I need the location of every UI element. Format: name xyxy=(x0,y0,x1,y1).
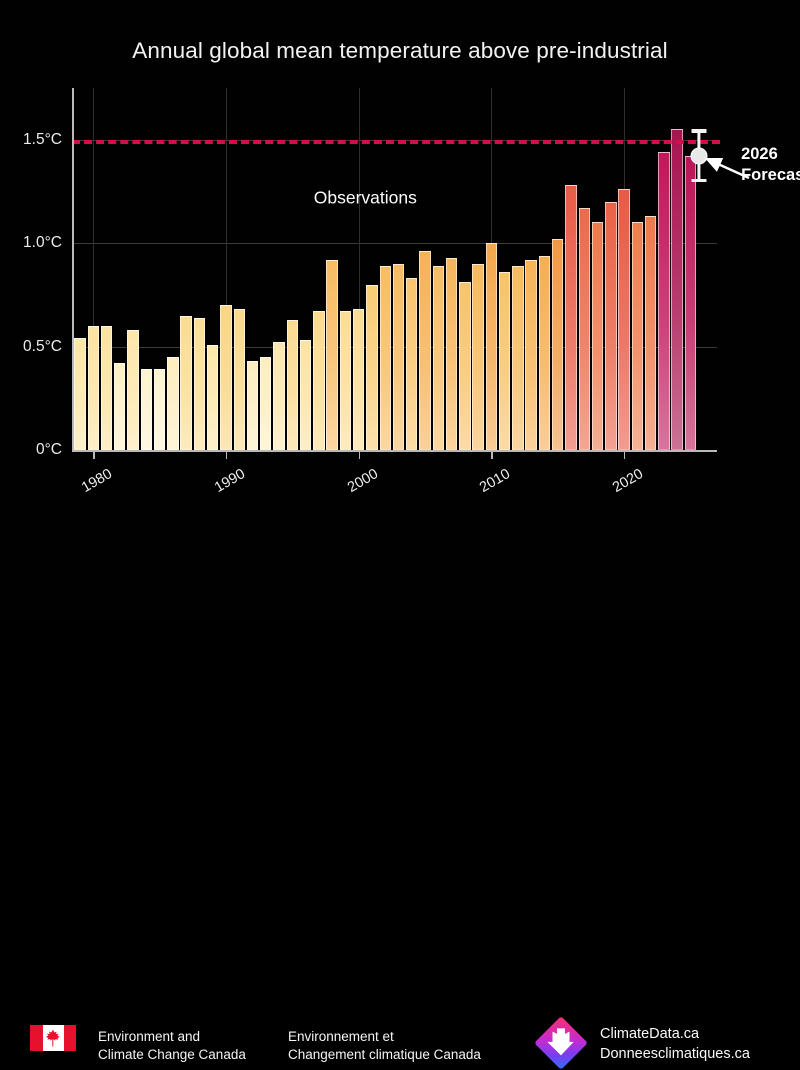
y-tick-label: 1.5°C xyxy=(23,131,62,149)
y-tick-label: 1.0°C xyxy=(23,234,62,252)
x-tick-label: 1980 xyxy=(79,466,115,496)
cd-line2: Donneesclimatiques.ca xyxy=(600,1044,750,1064)
y-axis-labels: 0°C0.5°C1.0°C1.5°C xyxy=(72,88,800,450)
ecc-fr-line2: Changement climatique Canada xyxy=(288,1046,481,1064)
x-tick-label: 2020 xyxy=(610,466,646,496)
x-axis-line xyxy=(72,450,717,452)
y-tick-label: 0°C xyxy=(36,441,62,459)
ecc-en-line2: Climate Change Canada xyxy=(98,1046,246,1064)
x-tick-label: 2010 xyxy=(477,466,513,496)
x-tick xyxy=(491,450,492,459)
climatedata-logo-icon xyxy=(534,1016,588,1070)
y-tick-label: 0.5°C xyxy=(23,338,62,356)
x-tick-label: 2000 xyxy=(345,466,381,496)
plot-area: Observations 0°C0.5°C1.0°C1.5°C 19801990… xyxy=(72,88,717,450)
x-tick xyxy=(226,450,227,459)
x-tick xyxy=(93,450,94,459)
x-tick-label: 1990 xyxy=(212,466,248,496)
canada-flag-icon xyxy=(30,1025,76,1051)
ecc-french-label: Environnement et Changement climatique C… xyxy=(288,1028,481,1064)
forecast-arrow-icon xyxy=(697,152,757,192)
ecc-en-line1: Environment and xyxy=(98,1028,246,1046)
ecc-english-label: Environment and Climate Change Canada xyxy=(98,1028,246,1064)
cd-line1: ClimateData.ca xyxy=(600,1024,750,1044)
x-tick xyxy=(359,450,360,459)
footer: Environment and Climate Change Canada En… xyxy=(0,500,800,619)
climatedata-label: ClimateData.ca Donneesclimatiques.ca xyxy=(600,1024,750,1064)
x-tick xyxy=(624,450,625,459)
ecc-fr-line1: Environnement et xyxy=(288,1028,481,1046)
chart-canvas: Annual global mean temperature above pre… xyxy=(0,0,800,619)
page-title: Annual global mean temperature above pre… xyxy=(0,38,800,64)
